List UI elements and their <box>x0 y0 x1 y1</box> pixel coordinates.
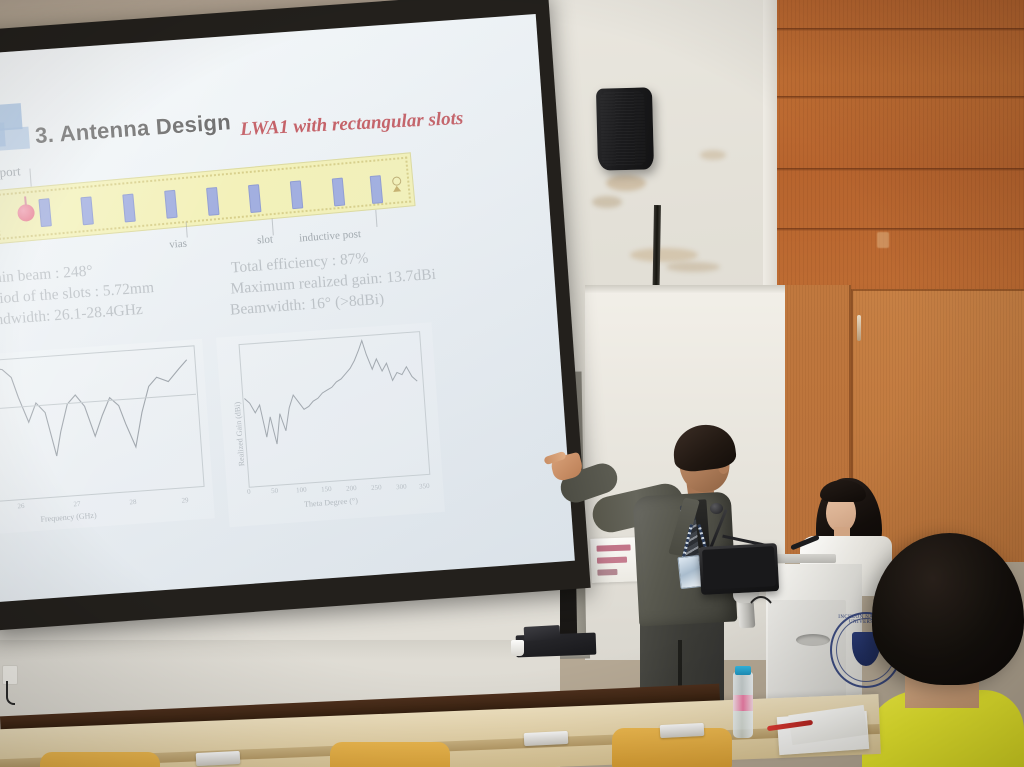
lecture-hall-photo: 3. Antenna Design LWA1 with rectangular … <box>0 0 1024 767</box>
wall-stain <box>630 248 698 262</box>
diagram-vias-label: vias <box>169 238 188 251</box>
outlet-cord <box>6 681 15 705</box>
chart-s11: 26 27 28 29 Frequency (GHz) <box>0 339 215 535</box>
name-plate <box>524 731 569 746</box>
chart-gain: Realized Gain (dBi) 0 50 100 150 200 250… <box>216 322 445 527</box>
wall-stain <box>592 196 622 208</box>
chart-s11-xtick: 26 <box>17 502 25 510</box>
chart-s11-xtick: 27 <box>73 500 81 508</box>
presentation-slide: 3. Antenna Design LWA1 with rectangular … <box>0 14 575 602</box>
wall-speaker-icon <box>596 87 654 170</box>
slide-title: 3. Antenna Design <box>34 109 232 149</box>
wall-stain <box>700 150 726 160</box>
chart-gain-xtick: 300 <box>396 482 407 491</box>
chart-gain-xtick: 100 <box>296 486 307 495</box>
monitor-cable <box>744 596 778 652</box>
speaker-grille <box>600 91 646 165</box>
wall-shading <box>0 640 560 660</box>
chart-gain-plot <box>216 322 445 527</box>
chart-s11-plot <box>0 339 215 535</box>
wall-stain <box>606 175 646 191</box>
antenna-substrate-outline <box>0 157 411 240</box>
wall-notice-sign <box>590 537 642 583</box>
chart-gain-xtick: 350 <box>419 482 430 491</box>
wood-seam <box>775 168 1024 171</box>
name-plate <box>196 751 241 766</box>
chart-gain-xtick: 250 <box>371 483 382 492</box>
cart-cable-port <box>796 634 830 646</box>
sign-text-line <box>596 544 630 551</box>
inductive-post-arrow <box>393 185 402 192</box>
chart-gain-xtick: 50 <box>271 487 279 495</box>
chart-gain-xtick: 0 <box>247 488 251 496</box>
recess-lip <box>585 285 785 293</box>
slide-decoration-square <box>0 127 30 151</box>
chart-gain-xtick: 150 <box>321 485 332 494</box>
leader-line <box>375 210 377 227</box>
chair-back <box>40 752 160 767</box>
paper-cup <box>511 640 524 656</box>
chart-gain-xtick: 200 <box>346 484 357 493</box>
wood-seam <box>775 228 1024 231</box>
diagram-inductive-post-label: inductive post <box>299 228 362 244</box>
chair-back <box>330 742 450 767</box>
bottle-cap <box>735 666 751 675</box>
microphone-head <box>710 503 723 514</box>
projection-screen: 3. Antenna Design LWA1 with rectangular … <box>0 14 575 602</box>
wood-seam <box>775 96 1024 99</box>
wood-blemish <box>877 232 889 248</box>
chart-s11-xtick: 28 <box>129 498 137 506</box>
wood-seam <box>775 28 1024 31</box>
sign-text-line <box>597 557 627 564</box>
diagram-port-label: port <box>0 163 21 180</box>
diagram-slot-label: slot <box>257 233 274 246</box>
door-handle[interactable] <box>857 315 861 341</box>
wall-stain <box>666 262 720 272</box>
av-device <box>524 625 561 641</box>
monitor-screen <box>702 546 776 590</box>
name-plate <box>660 723 705 738</box>
chart-s11-xtick: 29 <box>181 496 189 504</box>
leader-line <box>29 169 31 187</box>
sign-text-line <box>597 569 617 576</box>
bottle-label <box>733 695 753 711</box>
slide-subtitle: LWA1 with rectangular slots <box>240 108 464 141</box>
